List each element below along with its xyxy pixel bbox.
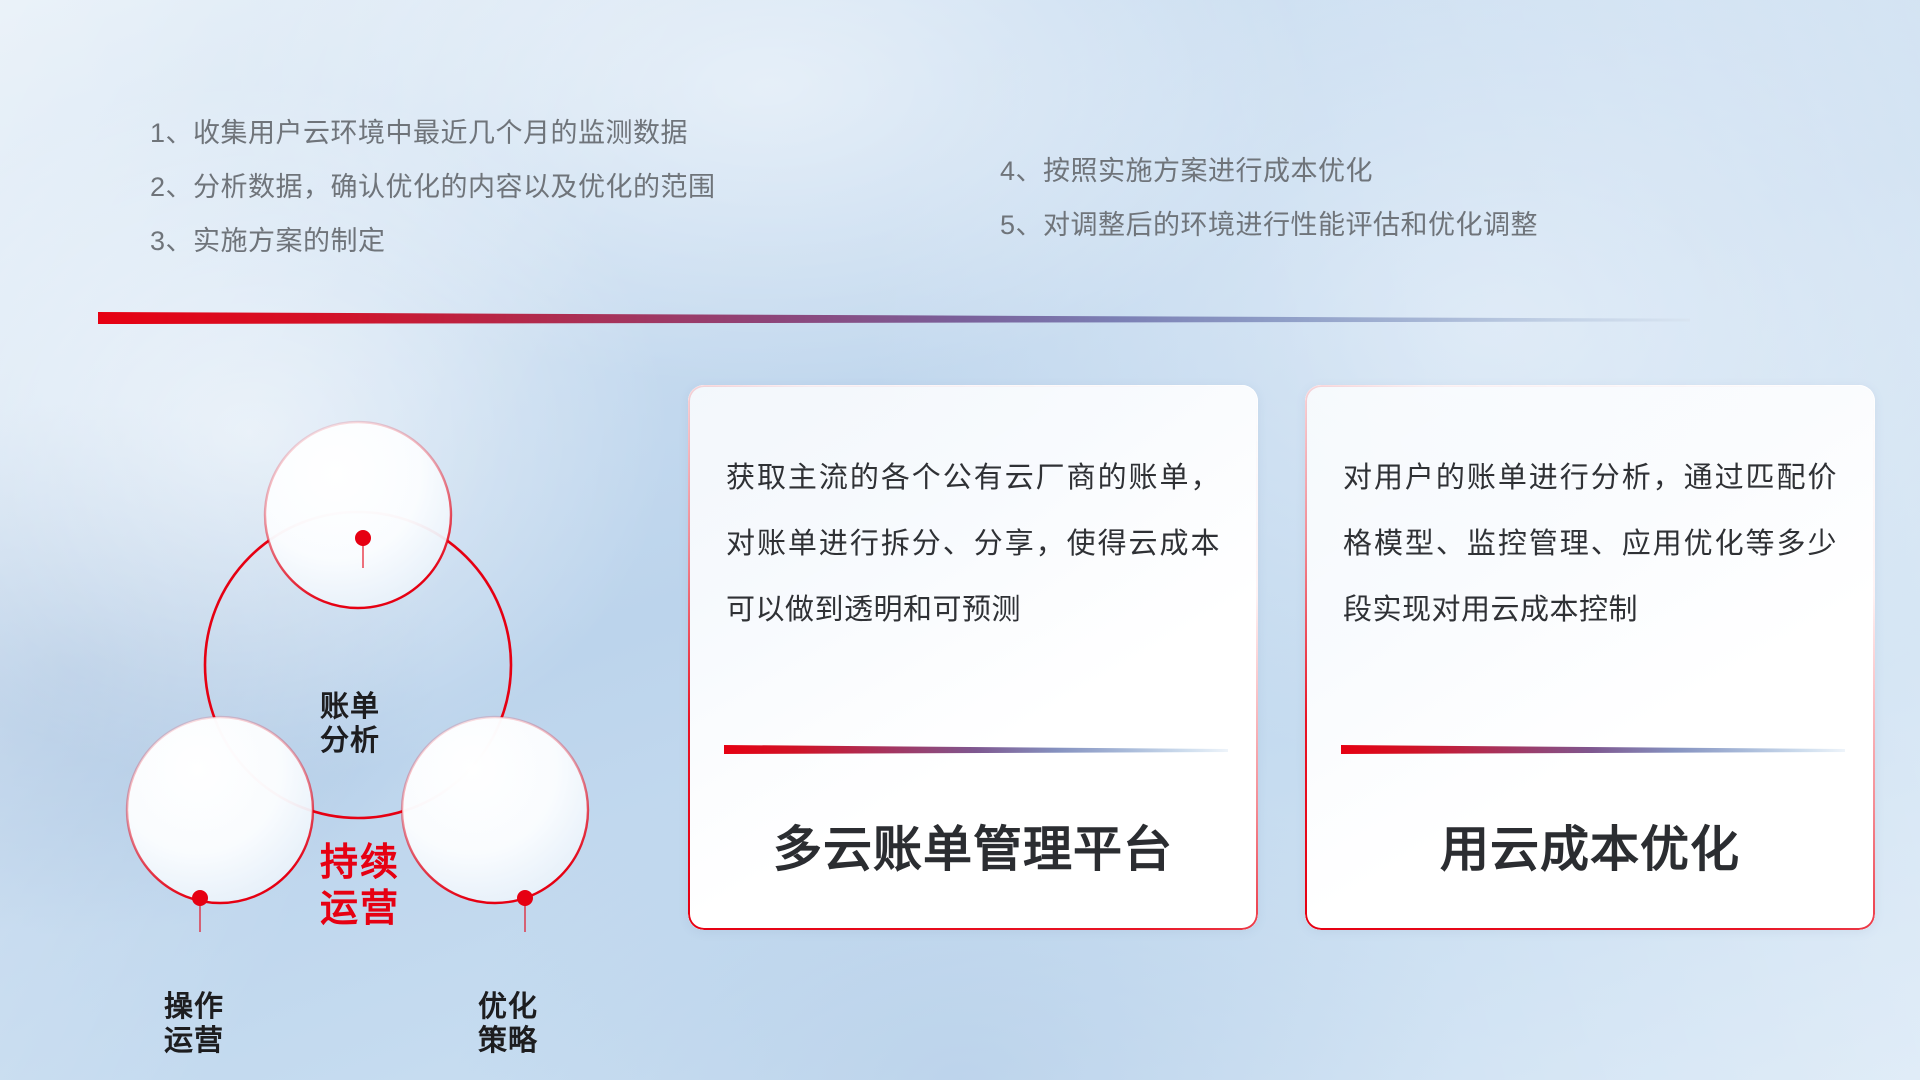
diagram-dot-left bbox=[192, 890, 208, 906]
card-body-text: 对用户的账单进行分析，通过匹配价格模型、监控管理、应用优化等多少段实现对用云成本… bbox=[1343, 445, 1837, 643]
step-item: 2、分析数据，确认优化的内容以及优化的范围 bbox=[150, 174, 716, 201]
section-divider bbox=[98, 310, 1690, 324]
section-divider-bar bbox=[98, 310, 1690, 324]
step-item: 4、按照实施方案进行成本优化 bbox=[1000, 158, 1538, 185]
card-title: 用云成本优化 bbox=[1305, 810, 1875, 881]
diagram-dot-right bbox=[517, 890, 533, 906]
diagram-label-operation: 操作 运营 bbox=[104, 990, 284, 1058]
feature-card[interactable]: 对用户的账单进行分析，通过匹配价格模型、监控管理、应用优化等多少段实现对用云成本… bbox=[1305, 385, 1875, 930]
diagram-label-optimization-strategy: 优化 策略 bbox=[418, 990, 598, 1058]
steps-list-left: 1、收集用户云环境中最近几个月的监测数据 2、分析数据，确认优化的内容以及优化的… bbox=[150, 120, 716, 282]
step-item: 5、对调整后的环境进行性能评估和优化调整 bbox=[1000, 212, 1538, 239]
diagram-bubble-top[interactable] bbox=[265, 422, 451, 608]
step-item: 1、收集用户云环境中最近几个月的监测数据 bbox=[150, 120, 716, 147]
diagram-dot-top bbox=[355, 530, 371, 546]
steps-list-right: 4、按照实施方案进行成本优化 5、对调整后的环境进行性能评估和优化调整 bbox=[1000, 158, 1538, 266]
feature-card[interactable]: 获取主流的各个公有云厂商的账单，对账单进行拆分、分享，使得云成本可以做到透明和可… bbox=[688, 385, 1258, 930]
diagram-label-bill-analysis: 账单 分析 bbox=[260, 690, 440, 758]
card-body-text: 获取主流的各个公有云厂商的账单，对账单进行拆分、分享，使得云成本可以做到透明和可… bbox=[726, 445, 1220, 643]
continuous-operation-diagram: 账单 分析 操作 运营 优化 策略 持续 运营 bbox=[100, 360, 660, 940]
diagram-center-label: 持续 运营 bbox=[270, 840, 450, 933]
step-item: 3、实施方案的制定 bbox=[150, 228, 716, 255]
card-divider bbox=[724, 745, 1228, 754]
card-divider bbox=[1341, 745, 1845, 754]
card-title: 多云账单管理平台 bbox=[688, 810, 1258, 881]
